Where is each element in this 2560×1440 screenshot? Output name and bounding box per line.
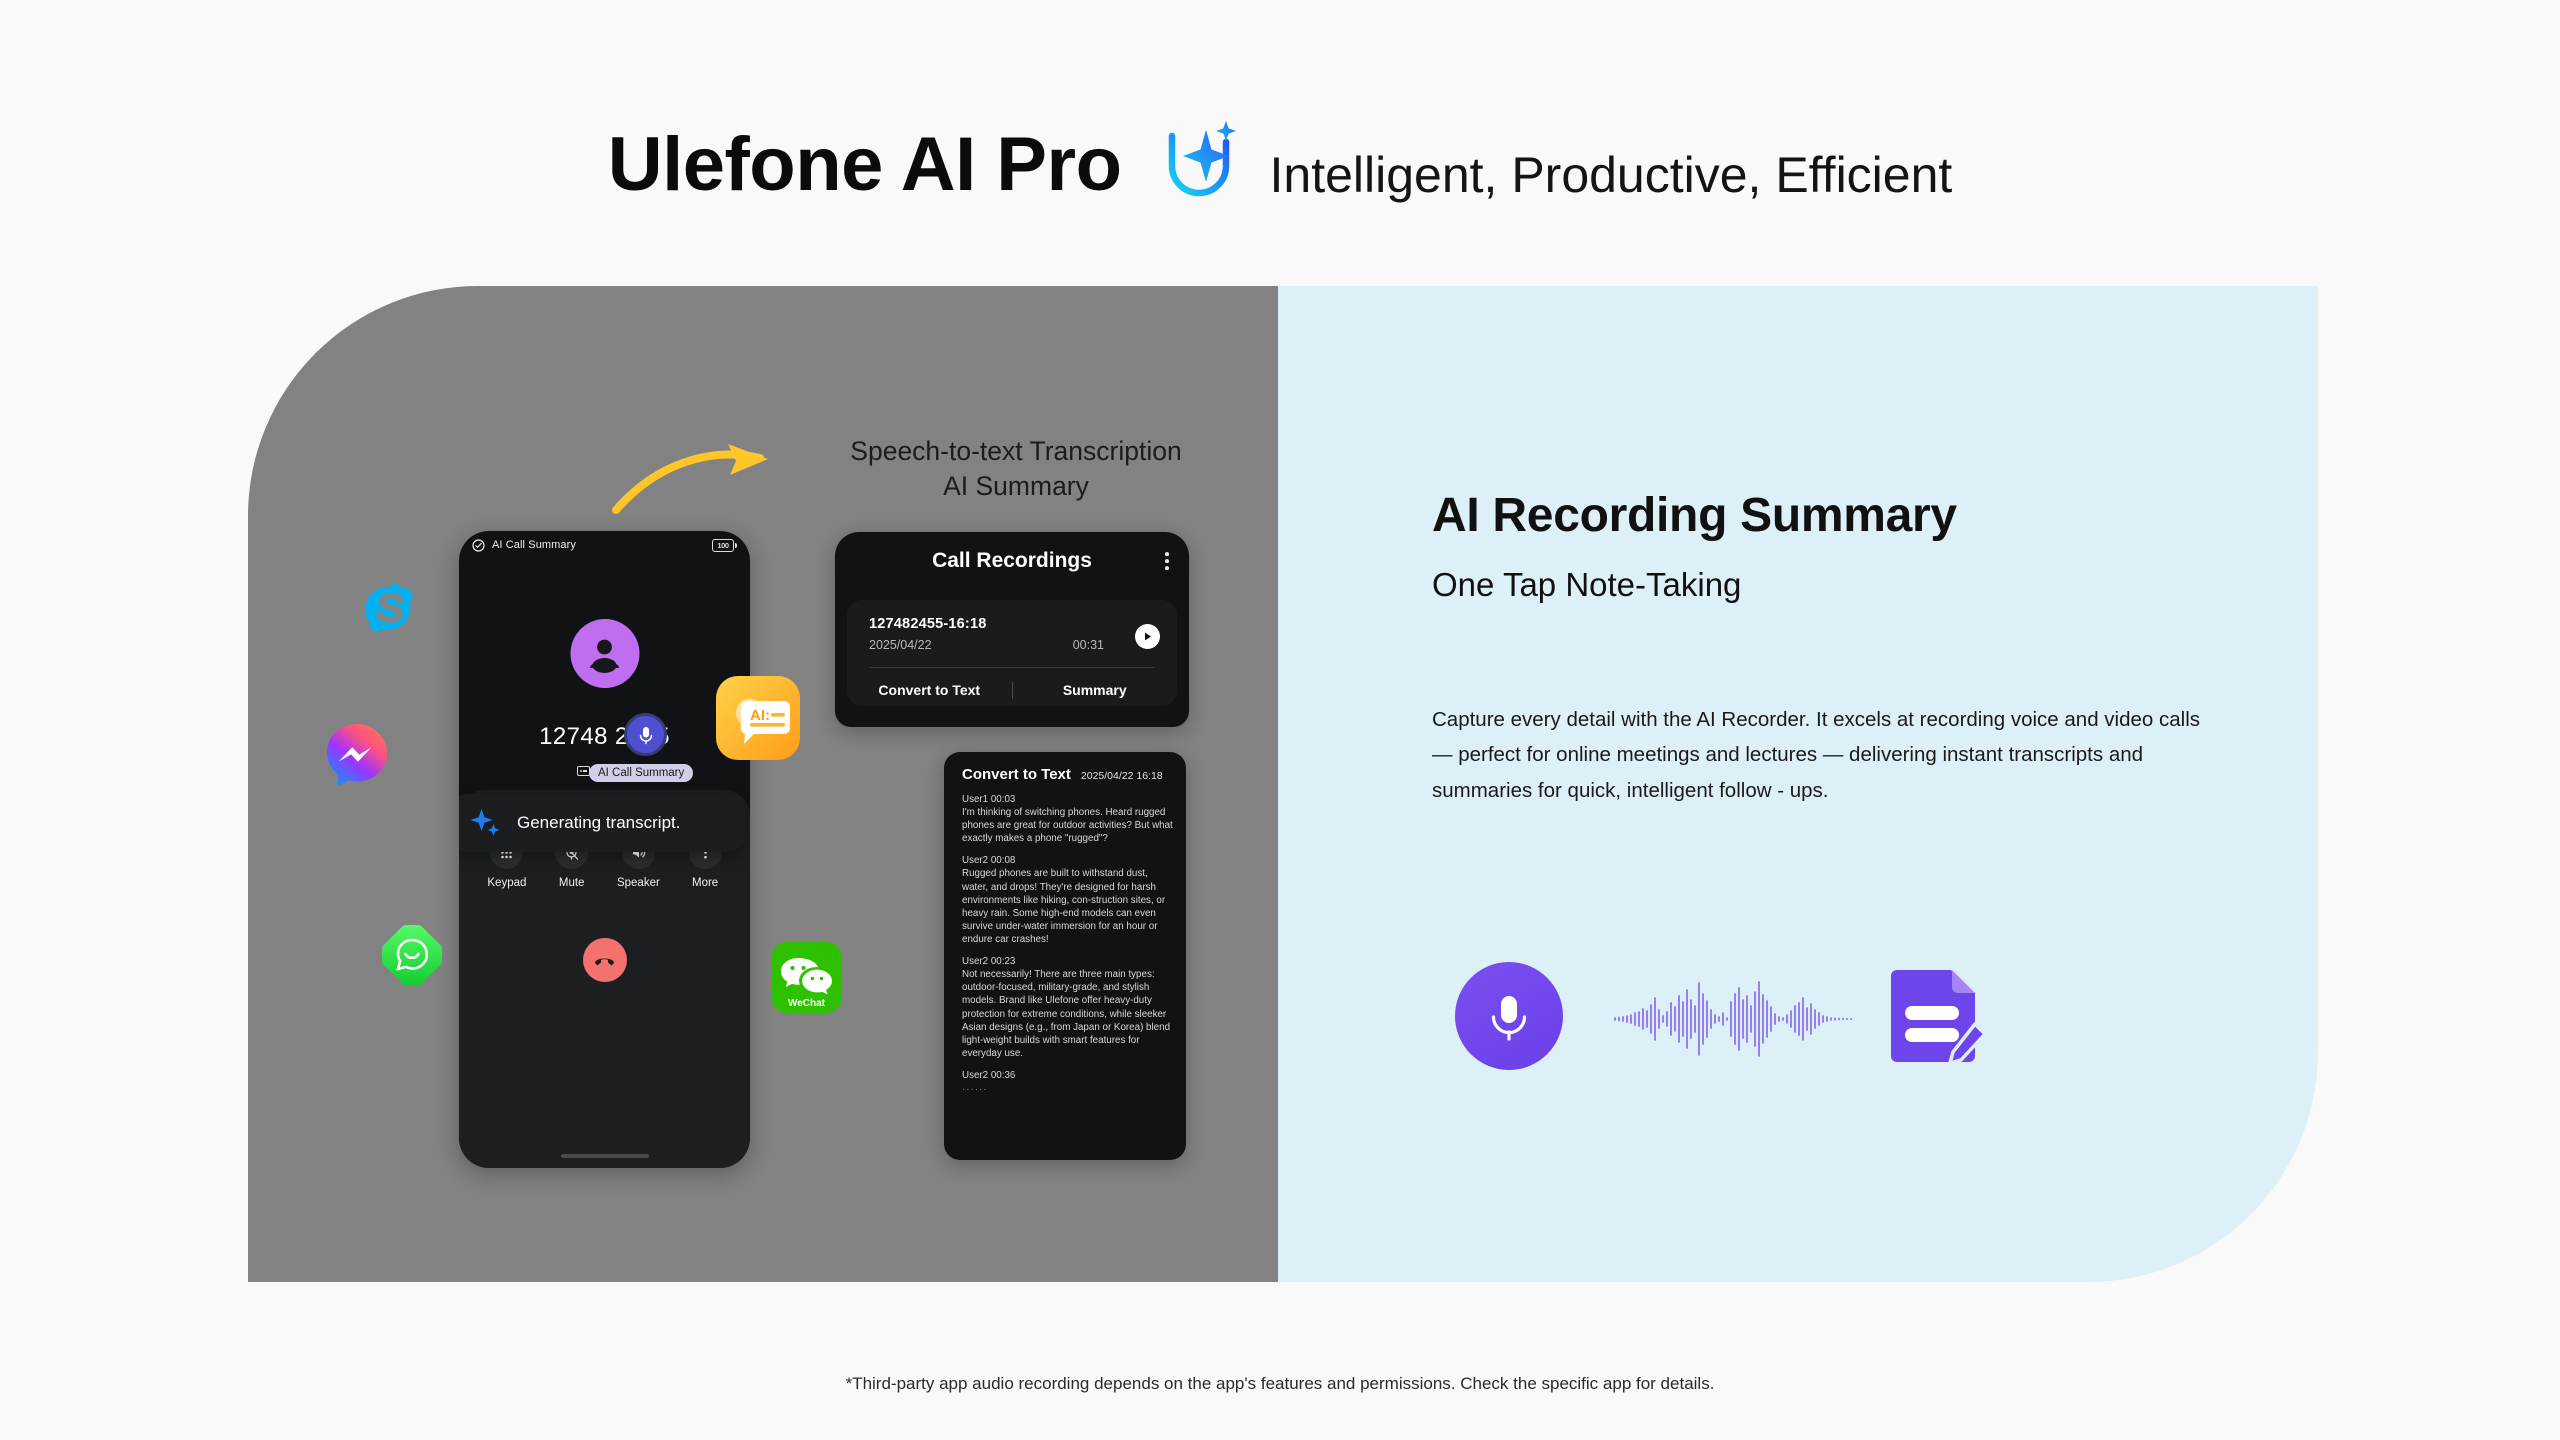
transcript-speaker: User2 00:23: [962, 956, 1174, 967]
whatsapp-icon: [382, 925, 442, 985]
page-tagline: Intelligent, Productive, Efficient: [1270, 150, 1953, 200]
page-root: Ulefone AI Pro Intelligent, Productive, …: [0, 0, 2560, 1440]
speech-to-text-callout: Speech-to-text Transcription AI Summary: [836, 434, 1196, 504]
call-recordings-card: Call Recordings 127482455-16:18 2025/04/…: [835, 532, 1189, 727]
convert-to-text-button[interactable]: Convert to Text: [847, 682, 1012, 698]
transcript-text: Rugged phones are built to withstand dus…: [962, 867, 1174, 946]
check-circle-icon: [472, 539, 485, 552]
recording-date: 2025/04/22: [869, 638, 932, 652]
transcript-title: Convert to Text: [962, 766, 1071, 783]
page-title: Ulefone AI Pro: [608, 127, 1122, 203]
sparkles-icon: [469, 806, 503, 840]
audio-waveform-icon: [1613, 976, 1863, 1062]
recordings-header: Call Recordings: [835, 532, 1189, 590]
toast-label: Generating transcript.: [517, 813, 680, 833]
summary-button[interactable]: Summary: [1013, 682, 1178, 698]
skype-icon: [363, 578, 419, 634]
transcript-text: Not necessarily! There are three main ty…: [962, 968, 1174, 1060]
home-indicator: [561, 1154, 649, 1158]
transcript-body: User1 00:03 I'm thinking of switching ph…: [962, 794, 1174, 1095]
messenger-icon: [325, 722, 389, 786]
svg-text:WeChat: WeChat: [788, 998, 826, 1009]
document-edit-icon: [1887, 968, 1987, 1072]
control-label: Keypad: [487, 877, 526, 889]
control-label: Speaker: [617, 877, 660, 889]
transcript-date: 2025/04/22 16:18: [1081, 770, 1163, 782]
microphone-circle-icon: [1455, 962, 1563, 1070]
phone-mockup: AI Call Summary 100 12748 2455 00:35: [459, 531, 750, 1168]
callout-line-2: AI Summary: [836, 469, 1196, 504]
divider: [869, 667, 1155, 668]
footer-disclaimer: *Third-party app audio recording depends…: [0, 1374, 2560, 1394]
play-icon[interactable]: [1135, 624, 1160, 649]
control-label: Mute: [559, 877, 585, 889]
recordings-title: Call Recordings: [932, 549, 1092, 573]
recording-actions: Convert to Text Summary: [847, 674, 1177, 706]
ai-call-summary-pill[interactable]: AI Call Summary: [589, 764, 693, 782]
transcript-speaker: User2 00:36: [962, 1070, 1174, 1081]
wechat-icon: WeChat: [771, 942, 842, 1013]
status-bar-label: AI Call Summary: [492, 539, 576, 551]
ai-summary-fab-area: AI Call Summary: [459, 734, 750, 794]
battery-icon: 100: [712, 539, 737, 552]
transcript-speaker: User2 00:08: [962, 855, 1174, 866]
transcript-truncation: ······: [962, 1084, 1174, 1095]
feature-description: Capture every detail with the AI Recorde…: [1432, 702, 2222, 808]
curved-arrow-icon: [612, 430, 792, 520]
generating-transcript-toast: Generating transcript.: [459, 794, 745, 852]
feature-subtitle: One Tap Note-Taking: [1432, 566, 1741, 604]
recording-name: 127482455-16:18: [869, 616, 987, 632]
transcript-header: Convert to Text 2025/04/22 16:18: [962, 766, 1163, 783]
page-header: Ulefone AI Pro Intelligent, Productive, …: [0, 100, 2560, 230]
callout-line-1: Speech-to-text Transcription: [836, 434, 1196, 469]
feature-title: AI Recording Summary: [1432, 488, 1957, 543]
recording-duration: 00:31: [1073, 638, 1104, 652]
ai-transcript-icon: AI:: [716, 676, 800, 760]
caller-avatar: [570, 619, 639, 688]
control-label: More: [692, 877, 718, 889]
svg-text:AI:: AI:: [750, 707, 770, 724]
phone-status-bar: AI Call Summary 100: [459, 531, 750, 559]
end-call-icon[interactable]: [583, 938, 627, 982]
ai-sparkle-logo-icon: [1156, 116, 1242, 202]
transcript-text: I'm thinking of switching phones. Heard …: [962, 806, 1174, 845]
battery-level: 100: [717, 541, 728, 550]
recording-graphic: [1455, 962, 2015, 1080]
microphone-icon[interactable]: [624, 713, 667, 756]
kebab-menu-icon[interactable]: [1165, 552, 1169, 570]
transcript-card: Convert to Text 2025/04/22 16:18 User1 0…: [944, 752, 1186, 1160]
recording-list-item[interactable]: 127482455-16:18 2025/04/22 00:31 Convert…: [847, 600, 1177, 706]
transcript-speaker: User1 00:03: [962, 794, 1174, 805]
